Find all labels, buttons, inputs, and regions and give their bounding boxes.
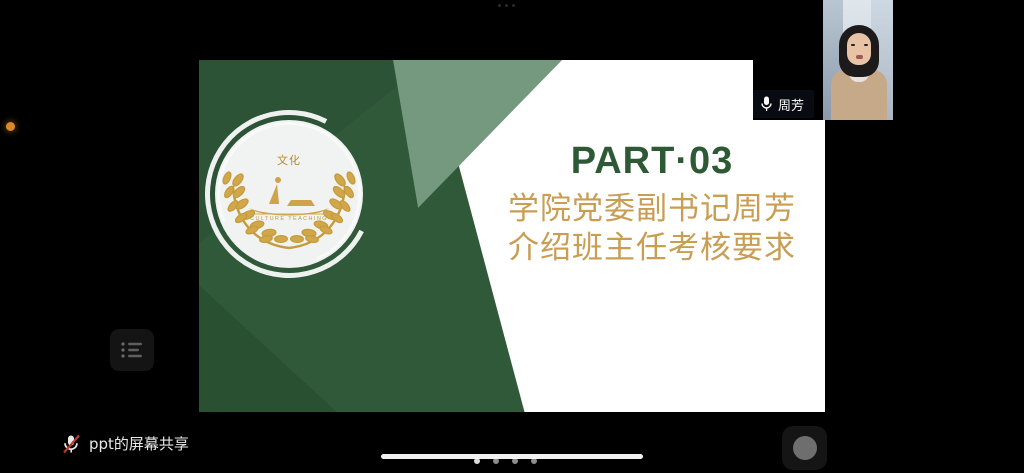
page-dot[interactable] bbox=[474, 458, 480, 464]
page-dot[interactable] bbox=[493, 458, 499, 464]
emblem-en-text: CULTURE TEACHING bbox=[205, 216, 373, 222]
share-status-label: ppt的屏幕共享 bbox=[89, 433, 189, 454]
dot bbox=[505, 4, 508, 7]
bottom-bar: ppt的屏幕共享 bbox=[0, 421, 1024, 473]
page-dot[interactable] bbox=[512, 458, 518, 464]
slide-heading-line-1: 学院党委副书记周芳 bbox=[487, 190, 817, 229]
participant-name-label: 周芳 bbox=[778, 95, 804, 114]
emblem-artwork bbox=[215, 120, 363, 268]
page-dots[interactable] bbox=[474, 458, 537, 464]
recording-dot-icon bbox=[6, 122, 15, 131]
participant-face bbox=[847, 33, 871, 65]
list-menu-icon bbox=[121, 341, 143, 359]
slide-text-block: PART·03 学院党委副书记周芳 介绍班主任考核要求 bbox=[487, 142, 817, 268]
dot bbox=[512, 4, 515, 7]
more-dots-icon bbox=[498, 4, 515, 7]
participant-eye-right bbox=[864, 44, 868, 46]
meeting-screen: 文化 CULTURE TEACHING PART·03 学院党委副书记周芳 介绍… bbox=[0, 0, 1024, 473]
emblem-cn-text: 文化 bbox=[205, 152, 373, 168]
shared-slide[interactable]: 文化 CULTURE TEACHING PART·03 学院党委副书记周芳 介绍… bbox=[199, 60, 825, 412]
list-menu-button[interactable] bbox=[110, 329, 154, 371]
dot bbox=[498, 4, 501, 7]
page-dot[interactable] bbox=[531, 458, 537, 464]
slide-part-label: PART·03 bbox=[487, 142, 817, 182]
microphone-icon bbox=[761, 96, 772, 112]
share-status[interactable]: ppt的屏幕共享 bbox=[62, 433, 189, 454]
video-frame bbox=[823, 0, 893, 120]
record-button[interactable] bbox=[782, 426, 827, 470]
participant-mouth bbox=[856, 55, 863, 59]
participant-name-badge: 周芳 bbox=[753, 90, 814, 118]
participant-eye-left bbox=[851, 44, 855, 46]
microphone-muted-icon bbox=[62, 434, 81, 454]
record-circle-icon bbox=[793, 436, 817, 460]
slide-heading-line-2: 介绍班主任考核要求 bbox=[487, 229, 817, 268]
laurel-wreath-boat-emblem: 文化 CULTURE TEACHING bbox=[205, 110, 373, 278]
